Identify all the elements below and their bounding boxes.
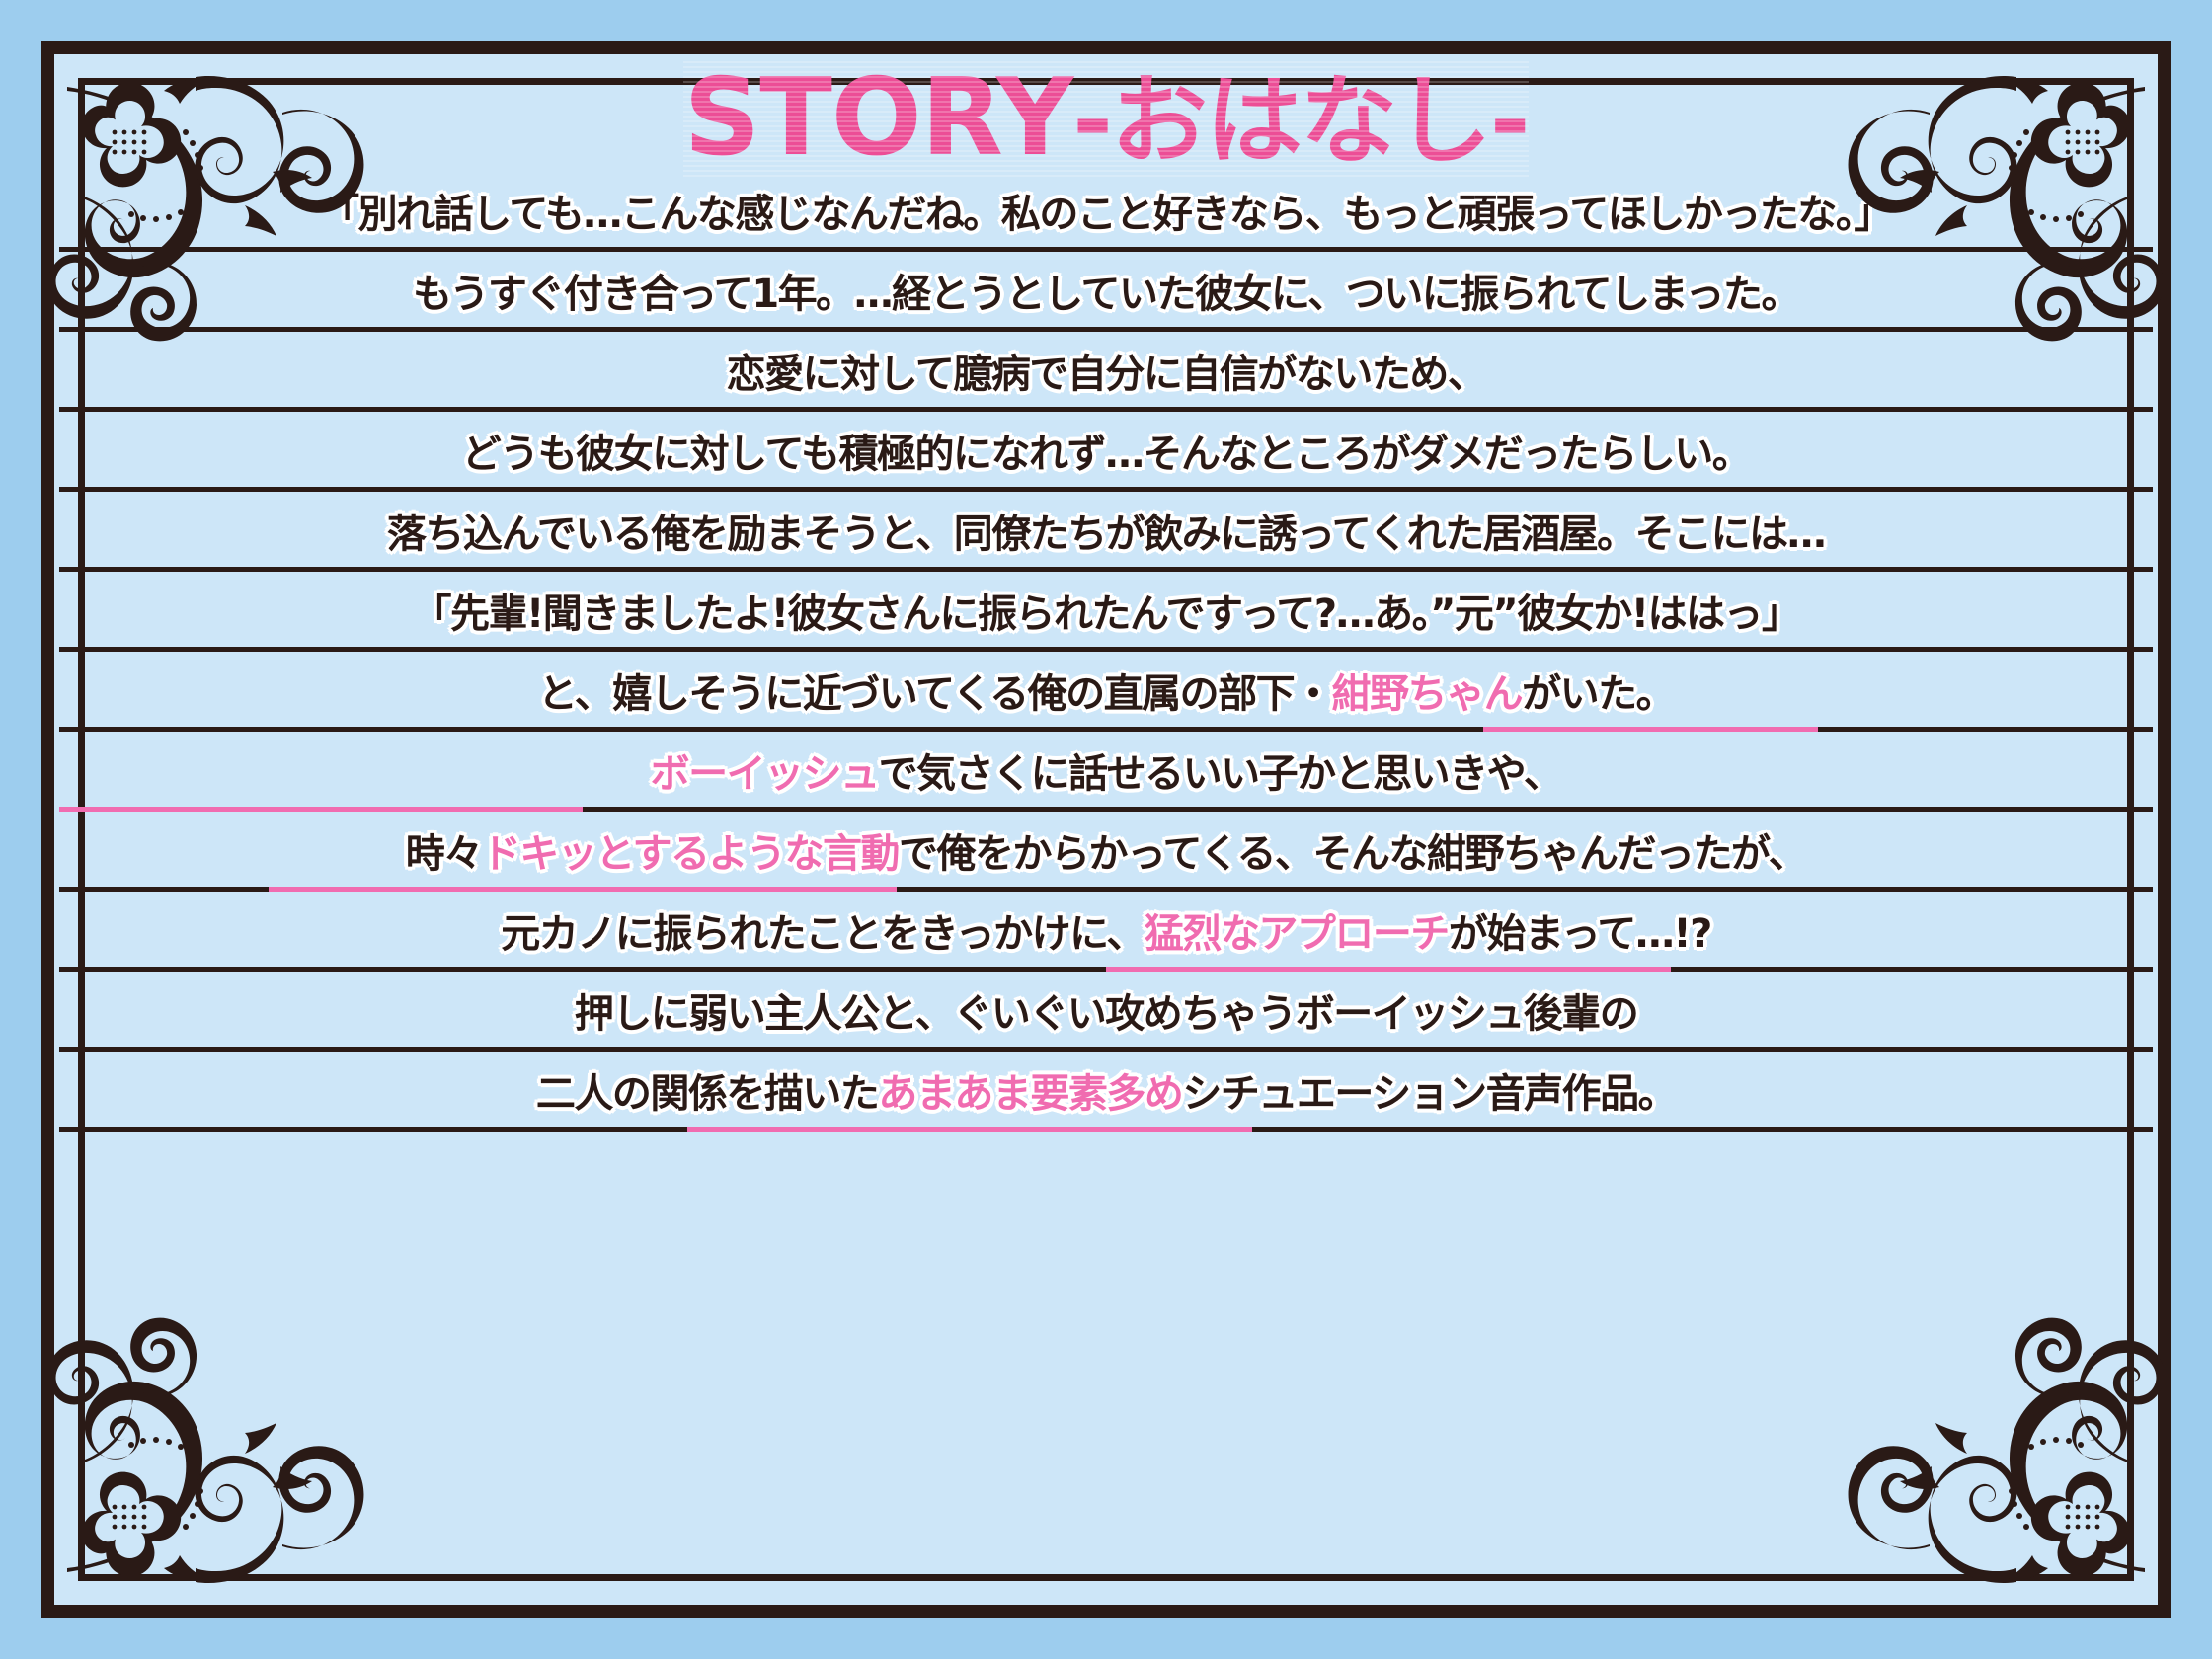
page-title: STORY-おはなし- [683,61,1528,177]
story-line-underline [59,567,2153,572]
underline-segment [59,807,583,812]
story-line-underline [59,967,2153,972]
underline-segment [59,1127,687,1132]
story-line-highlight: あまあま要素多め [878,1071,1182,1117]
story-line-underline [59,807,2153,812]
story-line-text: がいた。 [1522,671,1674,717]
story-line: もうすぐ付き合って1年。…経とうとしていた彼女に、ついに振られてしまった。 [413,263,1799,327]
story-line: 元カノに振られたことをきっかけに、猛烈なアプローチが始まって…!? [501,903,1711,967]
underline-segment [59,327,2153,332]
story-lines: 「別れ話しても…こんな感じなんだね。私のこと好きなら、もっと頑張ってほしかったな… [59,183,2153,1143]
story-line-text: 元カノに振られたことをきっかけに、 [501,911,1145,957]
story-line-text: 恋愛に対して臆病で自分に自信がないため、 [727,352,1486,397]
underline-segment [59,647,2153,652]
story-line-underline [59,327,2153,332]
story-line-text: 「先輩!聞きましたよ!彼女さんに振られたんですって?…あ。”元”彼女か!ははっ」 [413,592,1800,637]
story-line-text: で気さくに話せるいい子かと思いきや、 [879,751,1562,797]
story-line-underline [59,407,2153,412]
story-line: ボーイッシュで気さくに話せるいい子かと思いきや、 [651,743,1562,807]
story-line-text: もうすぐ付き合って1年。…経とうとしていた彼女に、ついに振られてしまった。 [413,272,1799,317]
underline-segment [59,1047,2153,1052]
story-line: と、嬉しそうに近づいてくる俺の直属の部下・紺野ちゃんがいた。 [538,663,1674,727]
page-title-english: STORY [683,56,1072,180]
underline-segment [1252,1127,2153,1132]
story-line: 「別れ話しても…こんな感じなんだね。私のこと好きなら、もっと頑張ってほしかったな… [320,183,1892,247]
story-line-highlight: ボーイッシュ [651,751,879,797]
underline-segment [59,727,1483,732]
story-line: 落ち込んでいる俺を励まそうと、同僚たちが飲みに誘ってくれた居酒屋。そこには… [387,503,1825,567]
story-line-underline [59,887,2153,892]
underline-segment [59,247,2153,252]
story-line-text: 落ち込んでいる俺を励まそうと、同僚たちが飲みに誘ってくれた居酒屋。そこには… [387,512,1825,557]
page-title-japanese: -おはなし- [1072,65,1528,178]
story-line-text: 二人の関係を描いた [536,1071,879,1117]
underline-segment [59,887,269,892]
story-line: どうも彼女に対しても積極的になれず…そんなところがダメだったらしい。 [462,423,1751,487]
story-line-text: どうも彼女に対しても積極的になれず…そんなところがダメだったらしい。 [462,432,1751,477]
story-line-text: 押しに弱い主人公と、ぐいぐい攻めちゃうボーイッシュ後輩の [575,991,1637,1037]
story-line-underline [59,647,2153,652]
underline-segment [1671,967,2153,972]
story-line-text: 時々 [406,831,482,877]
underline-segment [59,967,1106,972]
story-line-underline [59,247,2153,252]
story-line: 時々ドキッとするような言動で俺をからかってくる、そんな紺野ちゃんだったが、 [406,823,1807,887]
story-poster: STORY-おはなし- 「別れ話しても…こんな感じなんだね。私のこと好きなら、も… [0,0,2212,1659]
underline-segment [687,1127,1252,1132]
story-line-text: が始まって…!? [1449,911,1711,957]
story-line-text: 「別れ話しても…こんな感じなんだね。私のこと好きなら、もっと頑張ってほしかったな… [320,192,1892,237]
story-line: 恋愛に対して臆病で自分に自信がないため、 [727,343,1486,407]
story-line: 「先輩!聞きましたよ!彼女さんに振られたんですって?…あ。”元”彼女か!ははっ」 [413,583,1800,647]
story-line-text: シチュエーション音声作品。 [1182,1071,1676,1117]
story-line-highlight: 猛烈なアプローチ [1145,911,1449,957]
story-line-highlight: 紺野ちゃん [1332,671,1523,717]
story-line-underline [59,1127,2153,1132]
underline-segment [1483,727,1818,732]
story-content: STORY-おはなし- 「別れ話しても…こんな感じなんだね。私のこと好きなら、も… [59,47,2153,1619]
story-line-highlight: ドキッとするような言動 [482,831,899,877]
story-line-underline [59,1047,2153,1052]
underline-segment [583,807,2153,812]
underline-segment [269,887,897,892]
story-line: 二人の関係を描いたあまあま要素多めシチュエーション音声作品。 [536,1063,1676,1127]
underline-segment [59,487,2153,492]
story-line-underline [59,727,2153,732]
underline-segment [1106,967,1671,972]
underline-segment [59,567,2153,572]
story-line-text: と、嬉しそうに近づいてくる俺の直属の部下・ [538,671,1332,717]
story-line-underline [59,487,2153,492]
underline-segment [897,887,2153,892]
underline-segment [59,407,2153,412]
story-line: 押しに弱い主人公と、ぐいぐい攻めちゃうボーイッシュ後輩の [575,983,1637,1047]
underline-segment [1818,727,2153,732]
story-line-text: で俺をからかってくる、そんな紺野ちゃんだったが、 [899,831,1806,877]
